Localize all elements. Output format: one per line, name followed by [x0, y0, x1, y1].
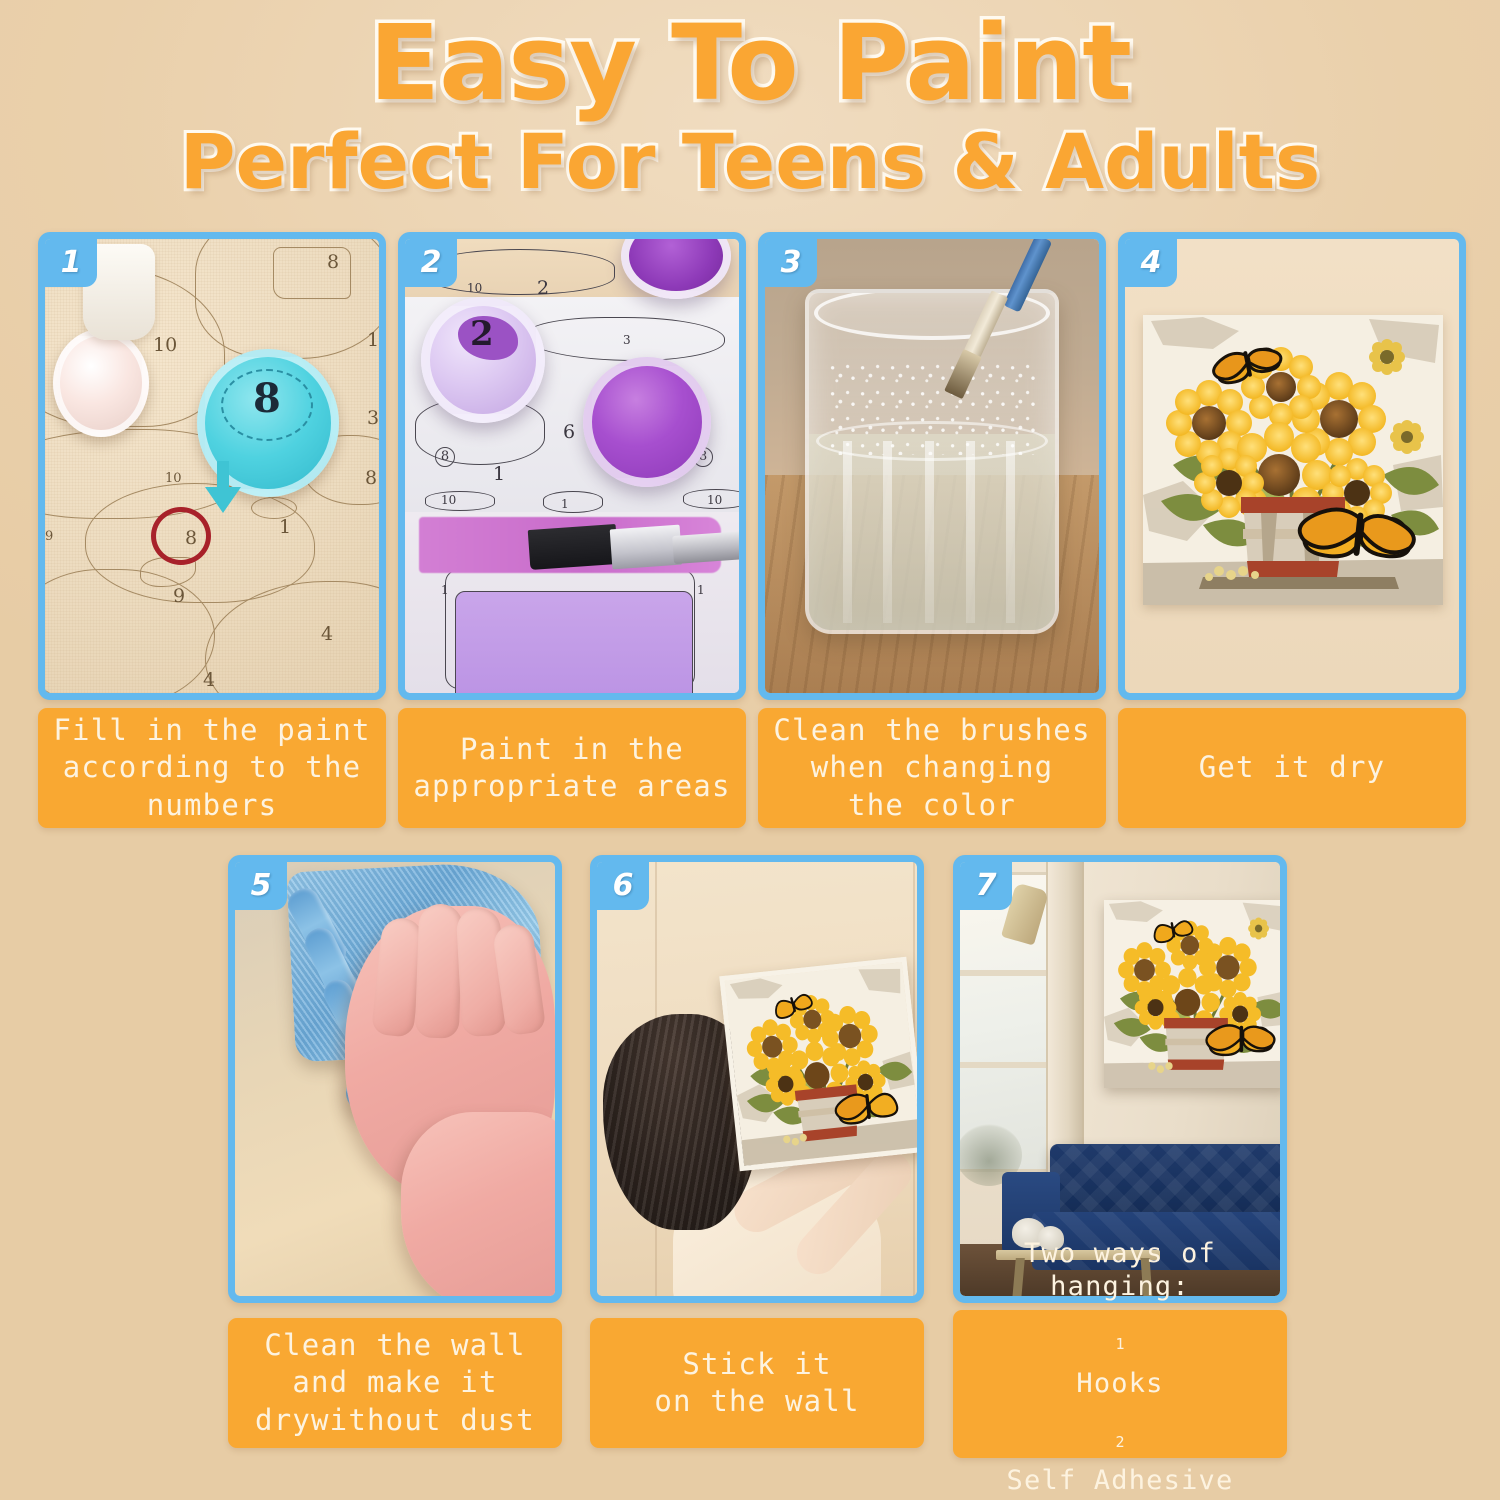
canvas-number: 10	[441, 493, 456, 507]
step-3-image	[765, 239, 1099, 693]
brush-ferrule	[610, 525, 683, 570]
glass-flute	[925, 441, 934, 623]
canvas-number: 9	[173, 585, 185, 607]
painted-area	[455, 591, 693, 693]
caption-7-line2: hanging:	[1050, 1271, 1190, 1303]
pot-number-label: 2	[470, 314, 494, 354]
arrow-head-icon	[205, 487, 241, 513]
canvas-number: 3	[367, 407, 379, 429]
highlight-circle	[151, 507, 211, 565]
pbn-outline	[543, 491, 603, 513]
canvas-number: 2	[537, 277, 549, 299]
sunflower-artwork-hung	[1104, 900, 1280, 1088]
glass-flute	[1006, 441, 1015, 623]
canvas-number: 4	[203, 669, 215, 691]
canvas-number: 1	[279, 516, 291, 538]
pot-number-label: 8	[253, 375, 281, 422]
paint-pot-lilac: 2	[421, 297, 545, 423]
brush-handle	[672, 530, 739, 564]
caption-7-line1: Two ways of	[1024, 1238, 1216, 1270]
finger	[415, 903, 464, 1038]
canvas-number: 1	[367, 329, 379, 351]
canvas-number: 10	[707, 493, 722, 507]
canvas-number: 9	[45, 529, 53, 544]
sunflower-artwork-held	[719, 957, 917, 1172]
step-caption-4: Get it dry	[1118, 708, 1466, 828]
step-2-image: 10 2 3 8 6 8 1 10 1 10 1 1 2	[405, 239, 739, 693]
glass-flute	[843, 441, 852, 623]
canvas-number: 1	[493, 463, 505, 485]
canvas-number: 8	[327, 251, 339, 273]
step-1-image: 8 10 1 3 8 9 10 1 8 9 4 4 8	[45, 239, 379, 693]
canvas-number: 8	[435, 447, 455, 467]
brush-bristles	[528, 524, 619, 570]
window-mullion	[960, 1062, 1050, 1068]
paint-pot-violet	[583, 357, 711, 487]
step-panel-3: 3	[758, 232, 1106, 700]
header: Easy To Paint Perfect For Teens & Adults	[0, 10, 1500, 202]
glass-flute	[883, 441, 892, 623]
step-badge-7: 7	[960, 862, 1012, 910]
caption-7-item1: 1 Hooks	[1076, 1303, 1163, 1400]
pbn-outline	[425, 491, 495, 511]
canvas-number: 10	[153, 334, 177, 356]
step-caption-5: Clean the wall and make it drywithout du…	[228, 1318, 562, 1448]
sunflower-artwork	[1143, 315, 1443, 605]
canvas-number: 8	[365, 467, 377, 489]
step-caption-6: Stick it on the wall	[590, 1318, 924, 1448]
step-badge-4: 4	[1125, 239, 1177, 287]
step-7-image	[960, 862, 1280, 1296]
step-caption-2: Paint in the appropriate areas	[398, 708, 746, 828]
caption-7-item1-marker: 1	[1115, 1335, 1124, 1353]
infographic-page: Easy To Paint Perfect For Teens & Adults…	[0, 0, 1500, 1500]
canvas-number: 6	[563, 421, 575, 443]
step-caption-1: Fill in the paint according to the numbe…	[38, 708, 386, 828]
canvas-number: 10	[165, 471, 182, 486]
canvas-number: 4	[321, 623, 333, 645]
canvas-number: 1	[561, 497, 569, 511]
step-badge-3: 3	[765, 239, 817, 287]
pbn-outline	[273, 247, 351, 299]
caption-7-item2: 2 Self Adhesive	[1007, 1400, 1234, 1497]
step-panel-4: 4	[1118, 232, 1466, 700]
wrist	[401, 1112, 555, 1296]
canvas-number: 3	[623, 333, 631, 347]
page-title: Easy To Paint	[0, 10, 1500, 116]
step-4-image	[1125, 239, 1459, 693]
step-caption-7: Two ways of hanging: 1 Hooks 2 Self Adhe…	[953, 1310, 1287, 1458]
window-mullion	[960, 970, 1050, 976]
step-panel-5: 5	[228, 855, 562, 1303]
step-6-image	[597, 862, 917, 1296]
step-panel-2: 10 2 3 8 6 8 1 10 1 10 1 1 2	[398, 232, 746, 700]
paint-pot-pink	[53, 329, 149, 437]
page-subtitle: Perfect For Teens & Adults	[0, 122, 1500, 202]
step-panel-7: 7	[953, 855, 1287, 1303]
step-5-image	[235, 862, 555, 1296]
step-badge-6: 6	[597, 862, 649, 910]
water-glass	[805, 289, 1059, 634]
caption-7-item2-marker: 2	[1115, 1433, 1124, 1451]
step-caption-3: Clean the brushes when changing the colo…	[758, 708, 1106, 828]
step-badge-5: 5	[235, 862, 287, 910]
canvas-number: 1	[697, 583, 705, 597]
glass-flute	[966, 441, 975, 623]
step-panel-1: 8 10 1 3 8 9 10 1 8 9 4 4 8 1	[38, 232, 386, 700]
step-badge-1: 1	[45, 239, 97, 287]
step-panel-6: 6	[590, 855, 924, 1303]
step-badge-2: 2	[405, 239, 457, 287]
canvas-number: 10	[467, 281, 482, 295]
canvas-number: 1	[441, 583, 449, 597]
